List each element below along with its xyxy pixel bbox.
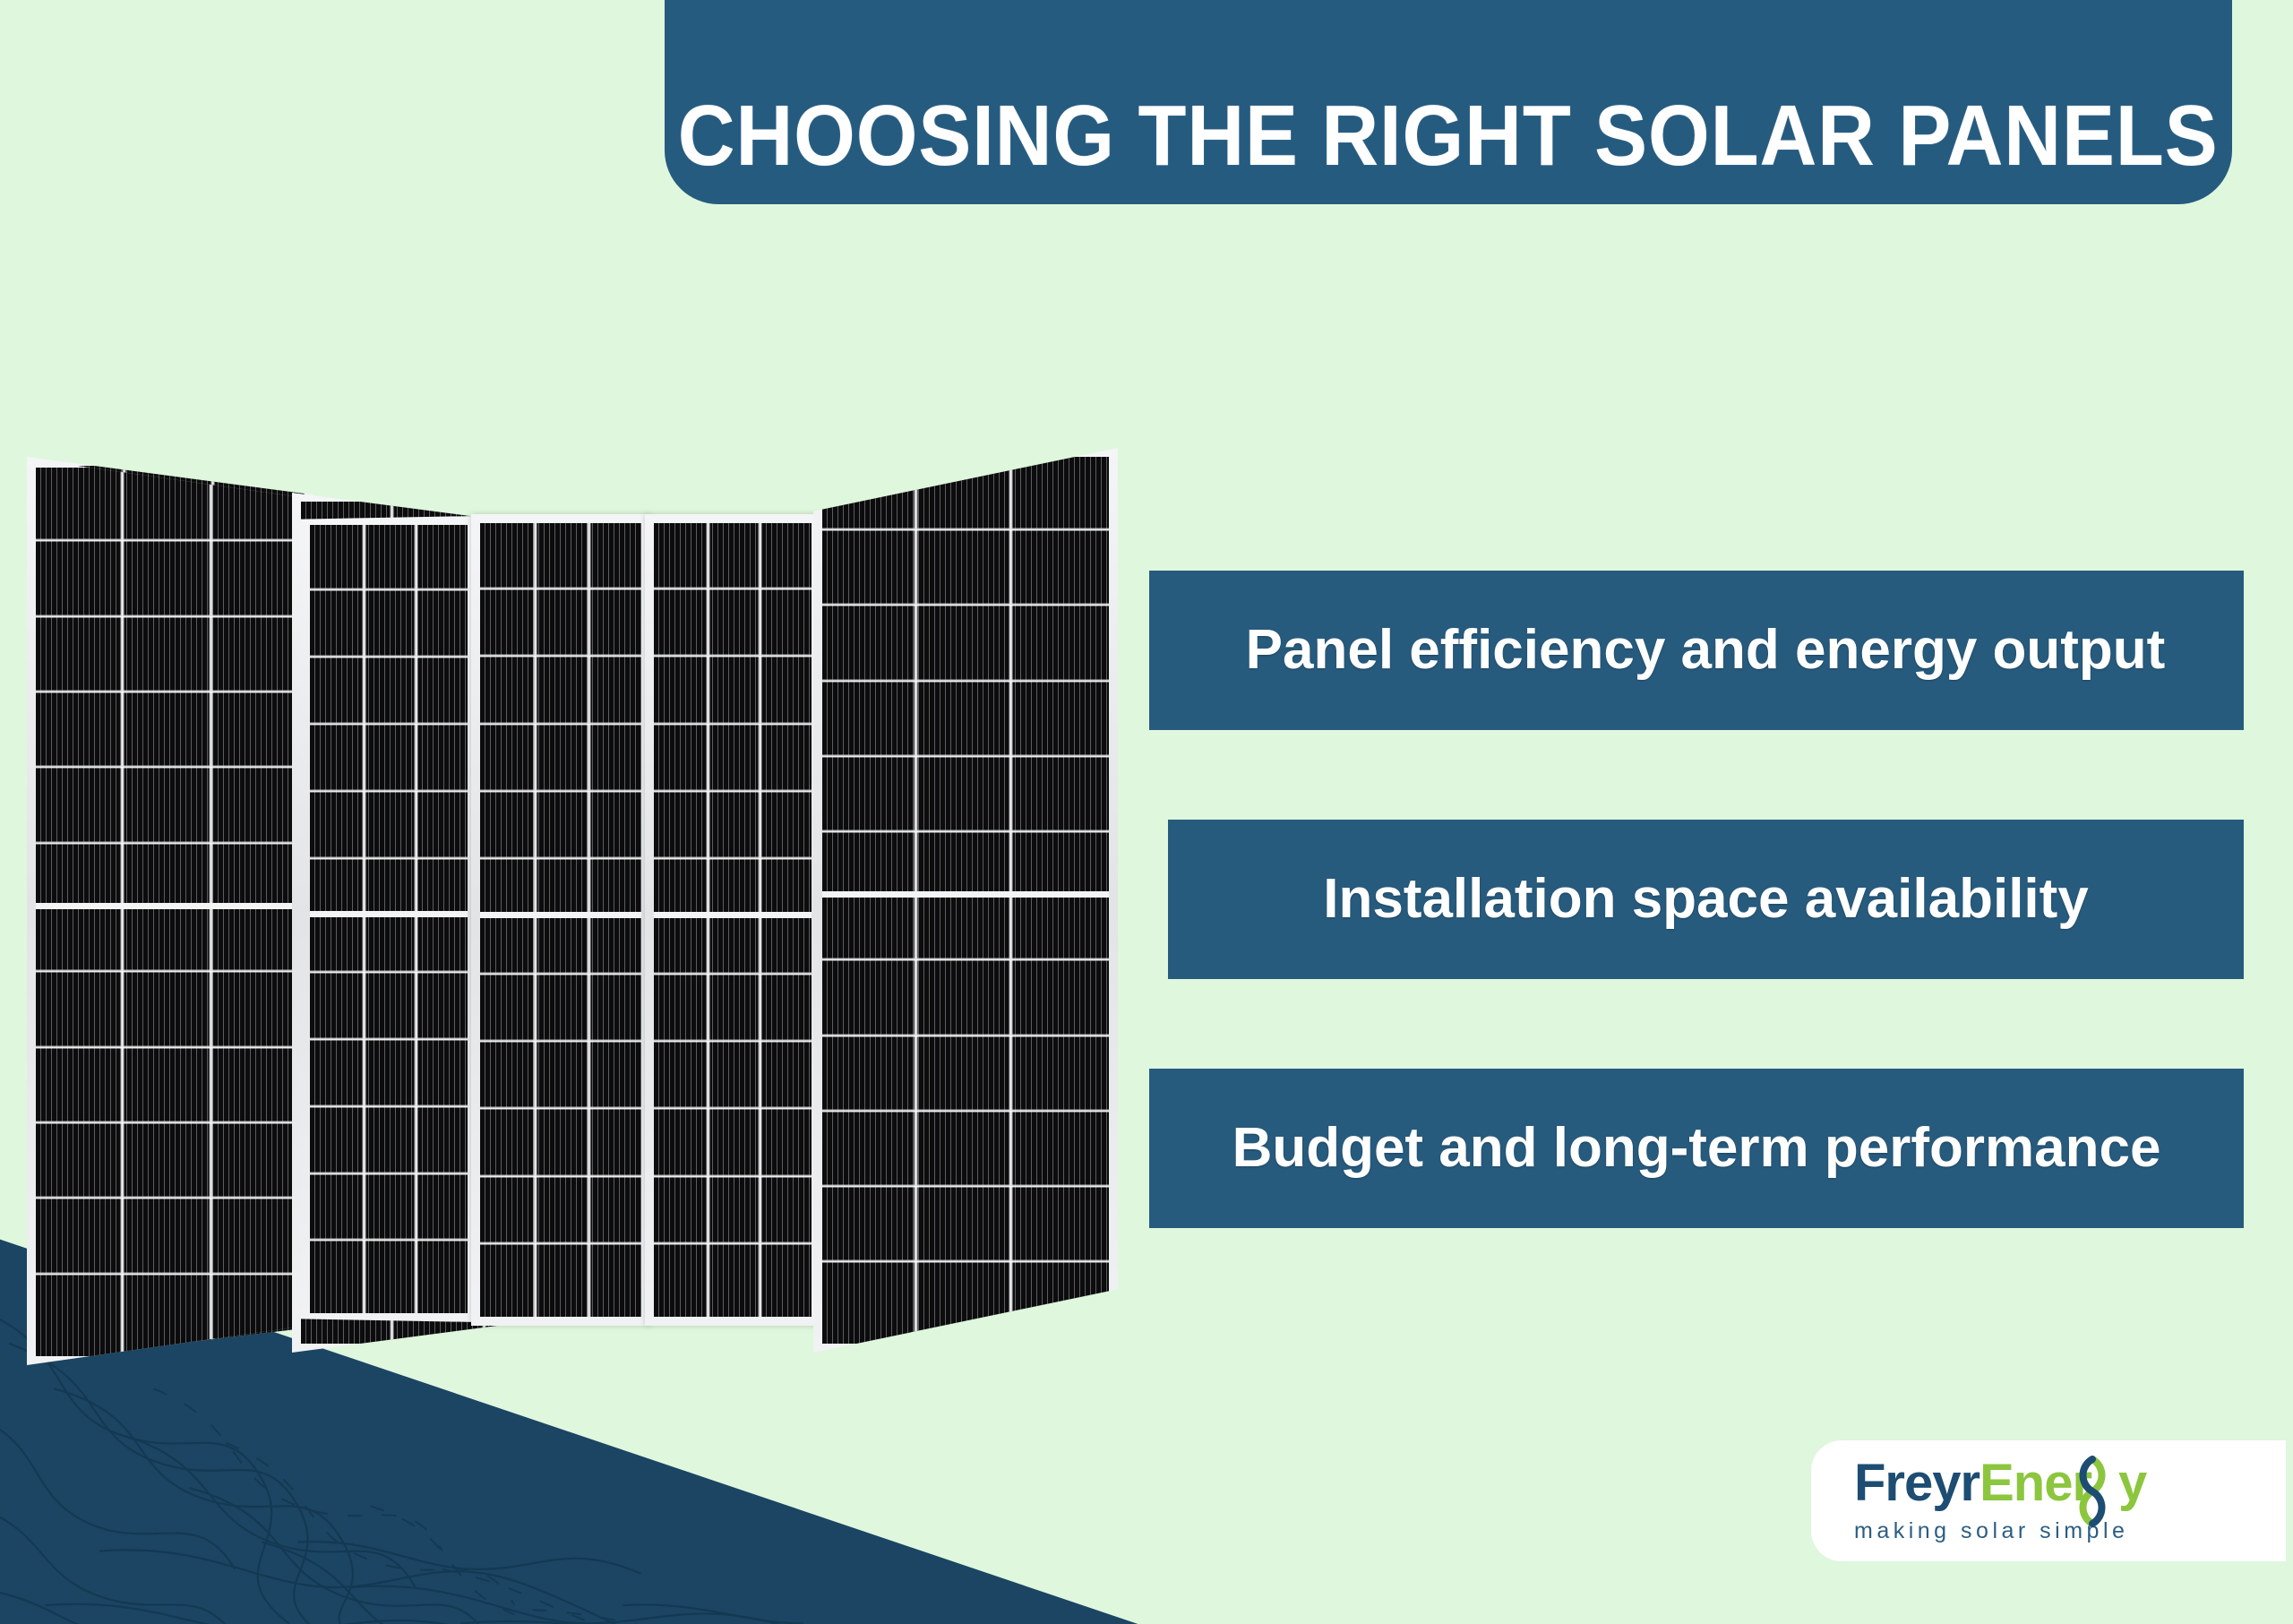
logo-brand-y: y bbox=[2118, 1457, 2146, 1509]
info-bar-budget-performance[interactable]: Budget and long-term performance bbox=[1149, 1069, 2244, 1228]
far-left-glass bbox=[36, 468, 306, 1356]
header-title-bar: CHOOSING THE RIGHT SOLAR PANELS bbox=[665, 0, 2232, 204]
solar-panel-center-1 bbox=[301, 516, 477, 1322]
info-bar-label: Panel efficiency and energy output bbox=[1149, 621, 2244, 679]
cell-grid bbox=[480, 523, 641, 1317]
info-bar-installation-space[interactable]: Installation space availability bbox=[1168, 820, 2244, 979]
logo-wordmark: Freyr Ener y bbox=[1854, 1457, 2286, 1509]
solar-panel-center-2 bbox=[471, 514, 650, 1326]
logo-brand-freyr: Freyr bbox=[1854, 1457, 1980, 1509]
info-bar-label: Budget and long-term performance bbox=[1149, 1119, 2244, 1177]
center-3-glass bbox=[654, 523, 812, 1317]
cell-grid bbox=[822, 457, 1109, 1344]
cell-grid bbox=[310, 525, 468, 1313]
solar-panel-right bbox=[813, 448, 1118, 1353]
infinity-icon bbox=[2065, 1452, 2108, 1529]
cell-grid bbox=[36, 468, 306, 1356]
center-2-glass bbox=[480, 523, 641, 1317]
page-title: CHOOSING THE RIGHT SOLAR PANELS bbox=[678, 93, 2219, 179]
info-bar-label: Installation space availability bbox=[1168, 870, 2244, 928]
solar-panel-center-3 bbox=[645, 514, 820, 1326]
info-bar-panel-efficiency[interactable]: Panel efficiency and energy output bbox=[1149, 571, 2244, 730]
infographic-canvas: CHOOSING THE RIGHT SOLAR PANELS Panel ef… bbox=[0, 0, 2293, 1624]
cell-grid bbox=[654, 523, 812, 1317]
center-1-glass bbox=[310, 525, 468, 1313]
right-glass bbox=[822, 457, 1109, 1344]
freyr-energy-logo[interactable]: Freyr Ener y making solar simple bbox=[1811, 1440, 2286, 1561]
solar-panel-far-left bbox=[27, 459, 315, 1365]
